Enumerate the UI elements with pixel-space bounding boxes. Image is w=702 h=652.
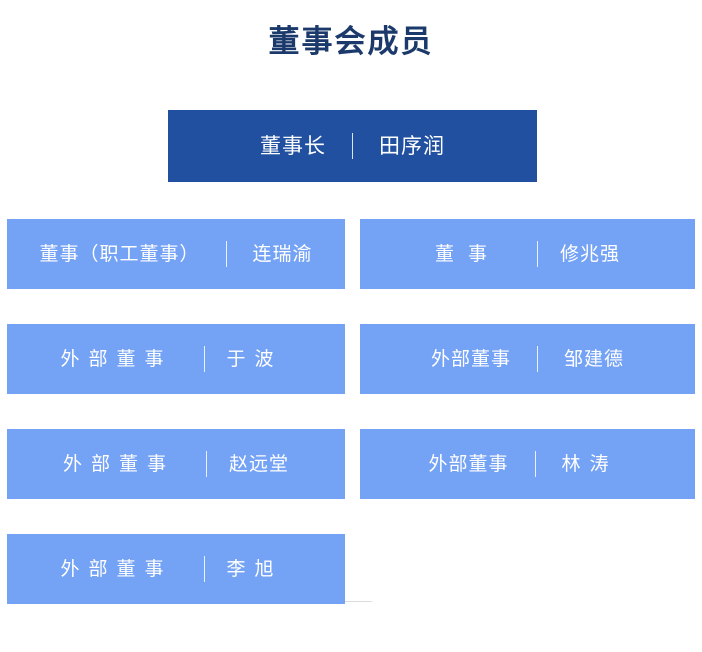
- board-members-page: 董事会成员 董事长 田序润 董事（职工董事） 连瑞渝 董事 修兆强 外部董事: [0, 0, 702, 652]
- member-role: 外部董事: [60, 560, 181, 579]
- separator-divider: [537, 241, 538, 267]
- member-card[interactable]: 外部董事 林涛: [360, 429, 695, 499]
- member-card[interactable]: 外部董事 邹建德: [360, 324, 695, 394]
- member-role: 外部董事: [431, 350, 511, 369]
- separator-divider: [226, 241, 227, 267]
- chairman-name: 田序润: [379, 136, 445, 157]
- separator-divider: [535, 451, 536, 477]
- member-role: 董事: [435, 245, 515, 264]
- member-name: 林涛: [562, 455, 627, 474]
- chairman-card[interactable]: 董事长 田序润: [168, 110, 537, 182]
- members-row-4: 外部董事 李旭: [0, 534, 702, 604]
- member-card[interactable]: 外部董事 于波: [7, 324, 345, 394]
- member-card[interactable]: 外部董事 李旭: [7, 534, 345, 604]
- members-row-2: 外部董事 于波 外部董事 邹建德: [0, 324, 702, 394]
- member-role: 外部董事: [63, 455, 184, 474]
- member-name: 李旭: [227, 560, 292, 579]
- separator-divider: [352, 133, 353, 159]
- separator-divider: [204, 346, 205, 372]
- separator-divider: [206, 451, 207, 477]
- member-role: 董事（职工董事）: [39, 245, 199, 264]
- member-card[interactable]: 董事 修兆强: [360, 219, 695, 289]
- member-role: 外部董事: [60, 350, 181, 369]
- member-name: 于波: [227, 350, 292, 369]
- member-name: 邹建德: [564, 350, 624, 369]
- members-grid: 董事（职工董事） 连瑞渝 董事 修兆强 外部董事 于波 外部董事 邹建德: [0, 219, 702, 639]
- member-role: 外部董事: [428, 455, 508, 474]
- members-row-1: 董事（职工董事） 连瑞渝 董事 修兆强: [0, 219, 702, 289]
- trailing-rule: [345, 601, 372, 602]
- member-name: 修兆强: [560, 245, 620, 264]
- member-name: 赵远堂: [229, 455, 289, 474]
- separator-divider: [204, 556, 205, 582]
- chairman-role: 董事长: [260, 136, 326, 157]
- members-row-3: 外部董事 赵远堂 外部董事 林涛: [0, 429, 702, 499]
- member-card[interactable]: 外部董事 赵远堂: [7, 429, 345, 499]
- separator-divider: [537, 346, 538, 372]
- chairman-row: 董事长 田序润: [0, 110, 702, 182]
- member-name: 连瑞渝: [253, 245, 313, 264]
- page-title: 董事会成员: [0, 22, 702, 62]
- member-card[interactable]: 董事（职工董事） 连瑞渝: [7, 219, 345, 289]
